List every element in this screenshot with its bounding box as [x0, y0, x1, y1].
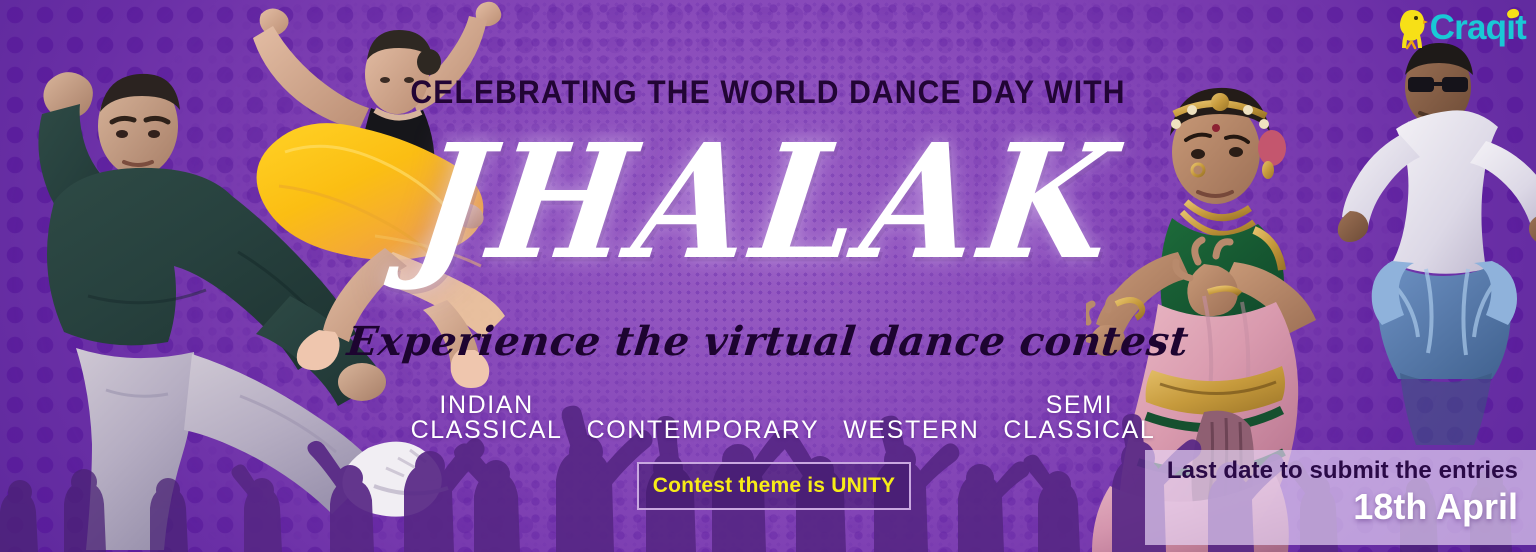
category-line-2: CLASSICAL [411, 418, 563, 443]
page-title: JHALAK [407, 124, 1128, 282]
category-contemporary: CONTEMPORARY [587, 418, 820, 443]
craqit-logo[interactable]: Craqit [1394, 6, 1526, 50]
category-western: WESTERN [843, 418, 979, 443]
headline-text: CELEBRATING THE WORLD DANCE DAY WITH [46, 74, 1490, 111]
deadline-label: Last date to submit the entries [1145, 458, 1518, 484]
deadline-date: 18th April [1145, 486, 1518, 527]
title-wrapper: JHALAK [0, 130, 1536, 276]
banner-text-layer: CELEBRATING THE WORLD DANCE DAY WITH JHA… [0, 0, 1536, 552]
category-line-1: INDIAN [439, 391, 533, 419]
tagline-text: Experience the virtual dance contest [0, 318, 1536, 365]
dance-categories: INDIAN CLASSICAL CONTEMPORARY WESTERN SE… [0, 393, 1536, 443]
category-line-2: CLASSICAL [1003, 418, 1155, 443]
chick-icon [1394, 6, 1428, 50]
western-dancer [1326, 25, 1536, 445]
category-line-1: CONTEMPORARY [587, 416, 820, 444]
deadline-panel[interactable]: Last date to submit the entries 18th Apr… [1145, 450, 1536, 545]
dance-contest-banner: CELEBRATING THE WORLD DANCE DAY WITH JHA… [0, 0, 1536, 552]
logo-wordmark: Craqit [1430, 8, 1526, 48]
contest-theme-label: Contest theme is UNITY [653, 474, 895, 498]
contest-theme-badge[interactable]: Contest theme is UNITY [637, 462, 911, 510]
ballet-dancer [225, 0, 525, 400]
hiphop-dancer [0, 30, 450, 550]
category-line-1: SEMI [1046, 391, 1114, 419]
category-semi-classical: SEMI CLASSICAL [1003, 393, 1155, 443]
category-line-1: WESTERN [843, 416, 979, 444]
category-indian-classical: INDIAN CLASSICAL [411, 393, 563, 443]
